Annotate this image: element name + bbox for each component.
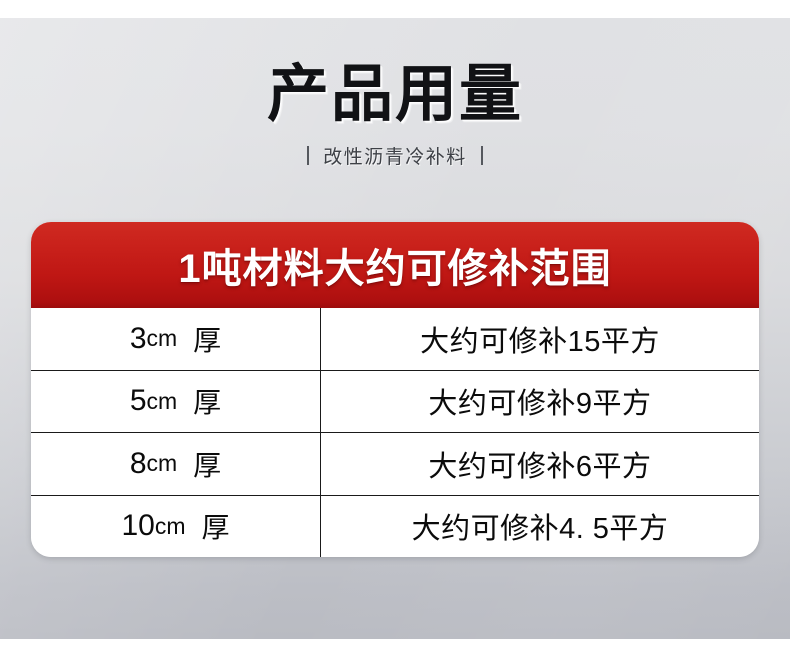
table-row: 10cm厚 大约可修补4. 5平方 [31, 496, 759, 558]
thickness-unit: cm [155, 513, 186, 540]
thickness-unit: cm [147, 388, 178, 415]
table-cell-area: 大约可修补9平方 [321, 371, 759, 433]
area-value: 大约可修补4. 5平方 [412, 505, 669, 547]
subtitle-separator-right-icon [481, 146, 483, 165]
thickness-word: 厚 [193, 381, 221, 421]
table-cell-thickness: 10cm厚 [31, 496, 321, 558]
area-value: 大约可修补9平方 [428, 380, 651, 422]
subtitle-separator-left-icon [307, 146, 309, 165]
table-cell-thickness: 5cm厚 [31, 371, 321, 433]
thickness-value: 8 [130, 447, 147, 481]
table-cell-area: 大约可修补15平方 [321, 308, 759, 370]
thickness-word: 厚 [193, 319, 221, 359]
table-cell-area: 大约可修补4. 5平方 [321, 496, 759, 558]
usage-table-body: 3cm厚 大约可修补15平方 5cm厚 大约可修补9平方 [31, 308, 759, 557]
product-usage-infographic: 产品用量 改性沥青冷补料 1吨材料大约可修补范围 3cm厚 [0, 0, 790, 651]
thickness-word: 厚 [193, 444, 221, 484]
usage-table: 3cm厚 大约可修补15平方 5cm厚 大约可修补9平方 [31, 308, 759, 557]
usage-table-banner-title: 1吨材料大约可修补范围 [178, 236, 611, 294]
thickness-value: 10 [121, 509, 154, 543]
thickness-unit: cm [147, 325, 178, 352]
usage-table-card: 1吨材料大约可修补范围 3cm厚 大约可修补15平方 5cm厚 [31, 222, 759, 557]
subtitle-row: 改性沥青冷补料 [0, 142, 790, 169]
area-value: 大约可修补6平方 [428, 443, 651, 485]
table-row: 8cm厚 大约可修补6平方 [31, 433, 759, 496]
table-row: 3cm厚 大约可修补15平方 [31, 308, 759, 371]
table-cell-thickness: 3cm厚 [31, 308, 321, 370]
table-cell-thickness: 8cm厚 [31, 433, 321, 495]
page-subtitle: 改性沥青冷补料 [323, 142, 467, 169]
content-layer: 产品用量 改性沥青冷补料 1吨材料大约可修补范围 3cm厚 [0, 0, 790, 651]
area-value: 大约可修补15平方 [420, 318, 660, 360]
thickness-value: 3 [130, 322, 147, 356]
thickness-unit: cm [147, 450, 178, 477]
thickness-value: 5 [130, 384, 147, 418]
heading-block: 产品用量 改性沥青冷补料 [0, 64, 790, 169]
page-title: 产品用量 [0, 64, 790, 126]
thickness-word: 厚 [202, 506, 230, 546]
table-cell-area: 大约可修补6平方 [321, 433, 759, 495]
table-row: 5cm厚 大约可修补9平方 [31, 371, 759, 434]
usage-table-banner: 1吨材料大约可修补范围 [31, 222, 759, 308]
